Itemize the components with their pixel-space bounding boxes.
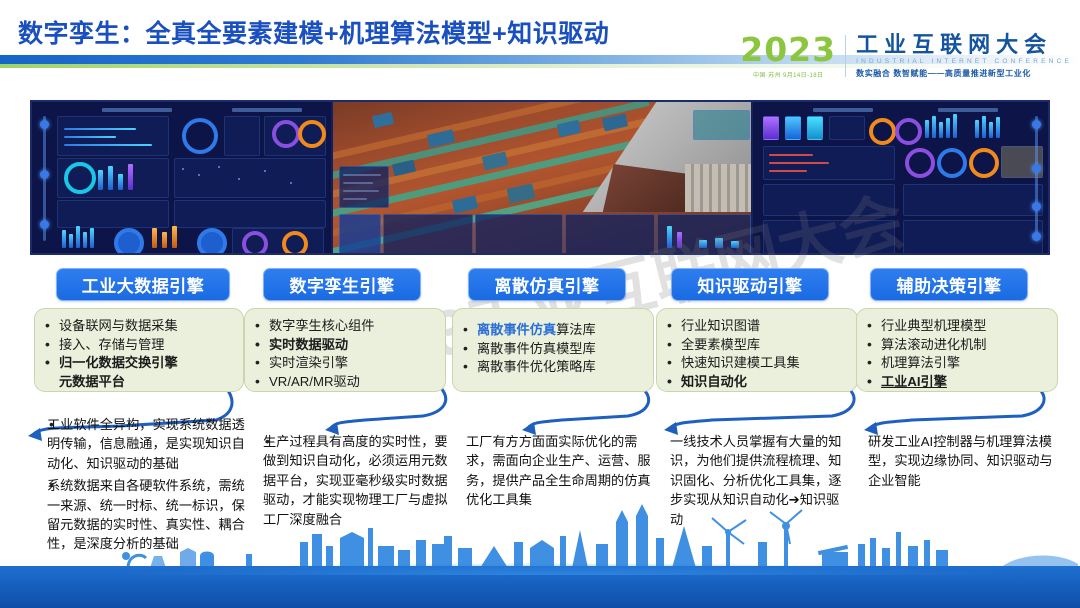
list-item: 设备联网与数据采集 xyxy=(41,317,237,336)
notes-5: 研发工业AI控制器与机理算法模型，实现边缘协同、知识驱动与企业智能 xyxy=(862,432,1058,493)
page-title: 数字孪生：全真全要素建模+机理算法模型+知识驱动 xyxy=(18,14,609,50)
pill-decision-support-engine[interactable]: 辅助决策引擎 xyxy=(870,268,1028,301)
pill-knowledge-driven-engine[interactable]: 知识驱动引擎 xyxy=(671,268,829,301)
bullet-list-1: 设备联网与数据采集 接入、存储与管理 归一化数据交换引擎 元数据平台 xyxy=(41,317,237,392)
list-item: 机理算法引擎 xyxy=(863,354,1051,373)
bullet-list-4: 行业知识图谱 全要素模型库 快速知识建模工具集 知识自动化 xyxy=(663,317,851,392)
column-arrow-2 xyxy=(245,386,465,438)
list-item-highlight: 实时数据驱动 xyxy=(251,336,439,355)
right-bi-dashboard xyxy=(751,102,1048,253)
logo-date-location: 中国·苏州 9月14日-18日 xyxy=(753,70,823,79)
green-box-2: 数字孪生核心组件 实时数据驱动 实时渲染引擎 VR/AR/MR驱动 xyxy=(244,308,446,392)
logo-year-block: 2023 中国·苏州 9月14日-18日 xyxy=(740,33,845,79)
list-item: 离散事件优化策略库 xyxy=(459,358,647,377)
column-arrow-3 xyxy=(452,386,672,438)
bullet-list-2: 数字孪生核心组件 实时数据驱动 实时渲染引擎 VR/AR/MR驱动 xyxy=(251,317,439,392)
conference-logo: 2023 中国·苏州 9月14日-18日 工业互联网大会 INDUSTRIAL … xyxy=(740,28,1072,84)
bullet-list-3: 离散事件仿真算法库 离散事件仿真模型库 离散事件优化策略库 xyxy=(459,321,647,377)
list-item-highlight: 知识自动化 xyxy=(663,373,851,392)
list-item: 接入、存储与管理 xyxy=(41,336,237,355)
left-bi-dashboard xyxy=(32,102,333,253)
list-item: 全要素模型库 xyxy=(663,336,851,355)
green-box-1: 设备联网与数据采集 接入、存储与管理 归一化数据交换引擎 元数据平台 xyxy=(34,308,244,392)
note-text: 工厂有方方面面实际优化的需求，需面向企业生产、运营、服务，提供产品全生命周期的仿… xyxy=(466,434,651,507)
pill-discrete-simulation-engine[interactable]: 离散仿真引擎 xyxy=(468,268,626,301)
page-header: 数字孪生：全真全要素建模+机理算法模型+知识驱动 2023 中国·苏州 9月14… xyxy=(0,0,1080,90)
logo-title-en: INDUSTRIAL INTERNET CONFERENCE xyxy=(856,58,1072,65)
pill-industrial-big-data-engine[interactable]: 工业大数据引擎 xyxy=(56,268,230,301)
logo-slogan: 数实融合 数智赋能——高质量推进新型工业化 xyxy=(856,68,1072,79)
logo-year: 2023 xyxy=(740,33,836,66)
note-text: 研发工业AI控制器与机理算法模型，实现边缘协同、知识驱动与企业智能 xyxy=(868,434,1053,488)
notes-3: 工厂有方方面面实际优化的需求，需面向企业生产、运营、服务，提供产品全生命周期的仿… xyxy=(460,432,660,513)
list-item: 离散事件仿真模型库 xyxy=(459,340,647,359)
logo-text-block: 工业互联网大会 INDUSTRIAL INTERNET CONFERENCE 数… xyxy=(856,33,1072,79)
column-arrow-4 xyxy=(652,386,872,438)
bullet-dot: • xyxy=(49,414,54,435)
digital-twin-3d-factory xyxy=(333,102,751,253)
dashboard-image-band xyxy=(30,100,1050,255)
list-item: 行业典型机理模型 xyxy=(863,317,1051,336)
list-item: 快速知识建模工具集 xyxy=(663,354,851,373)
list-item-prefix-highlight: 离散事件仿真 xyxy=(477,322,556,337)
list-item-highlight-cont: 元数据平台 xyxy=(41,373,237,392)
bullet-list-5: 行业典型机理模型 算法滚动进化机制 机理算法引擎 工业AI引擎 xyxy=(863,317,1051,392)
list-item-suffix: 算法库 xyxy=(556,322,596,337)
green-box-4: 行业知识图谱 全要素模型库 快速知识建模工具集 知识自动化 xyxy=(656,308,858,392)
logo-title-cn: 工业互联网大会 xyxy=(856,33,1072,56)
list-item: VR/AR/MR驱动 xyxy=(251,373,439,392)
logo-divider xyxy=(845,35,846,77)
note-text: 工业软件全异构，实现系统数据透明传输，信息融通，是实现知识自动化、知识驱动的基础 xyxy=(47,417,245,471)
list-item: 算法滚动进化机制 xyxy=(863,336,1051,355)
list-item-highlight-underline: 工业AI引擎 xyxy=(863,373,1051,392)
list-item: 数字孪生核心组件 xyxy=(251,317,439,336)
list-item-split: 离散事件仿真算法库 xyxy=(459,321,647,340)
list-item: 实时渲染引擎 xyxy=(251,354,439,373)
bullet-dot: • xyxy=(265,431,270,452)
green-box-3: 离散事件仿真算法库 离散事件仿真模型库 离散事件优化策略库 xyxy=(452,308,654,392)
list-item-highlight: 归一化数据交换引擎 xyxy=(41,354,237,373)
list-item: 行业知识图谱 xyxy=(663,317,851,336)
bullet-dot: • xyxy=(49,475,54,496)
pill-digital-twin-engine[interactable]: 数字孪生引擎 xyxy=(263,268,421,301)
green-box-5: 行业典型机理模型 算法滚动进化机制 机理算法引擎 工业AI引擎 xyxy=(856,308,1058,392)
bottom-wave-band xyxy=(0,566,1080,608)
column-arrow-5 xyxy=(852,386,1062,438)
